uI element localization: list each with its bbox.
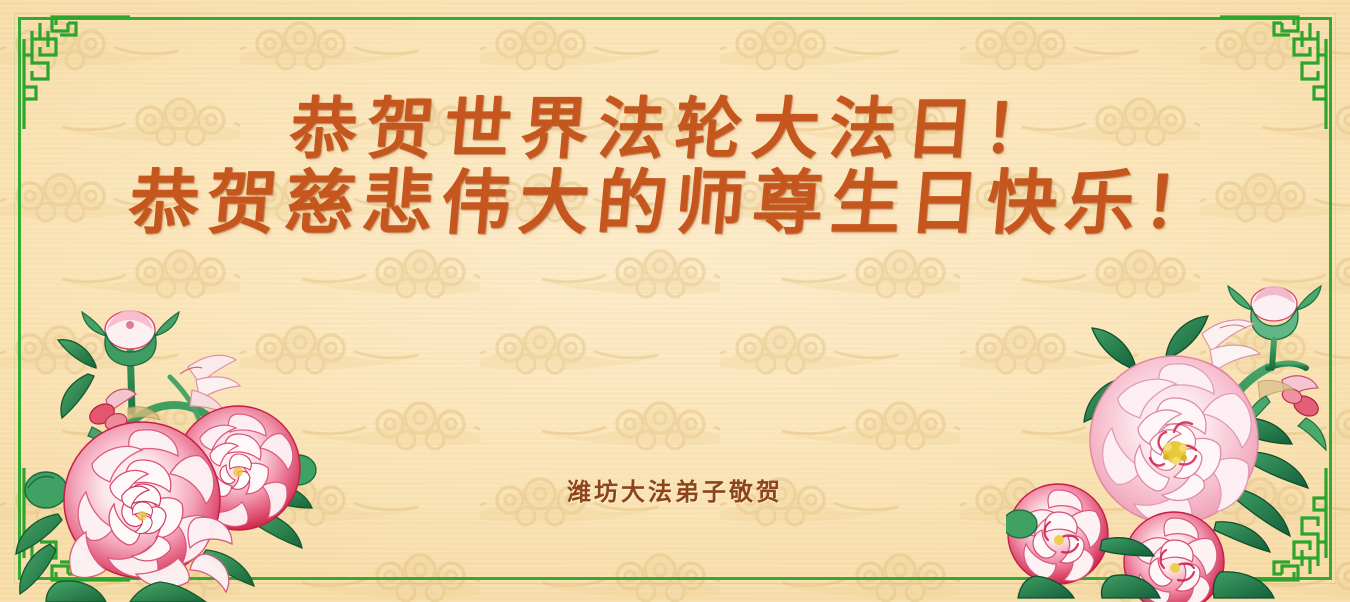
greeting-card: 恭贺世界法轮大法日！ 恭贺慈悲伟大的师尊生日快乐！ 潍坊大法弟子敬贺 <box>0 0 1350 602</box>
peony-cluster-icon <box>10 282 340 602</box>
chinese-meander-corner-icon <box>10 468 130 588</box>
headline-line-2: 恭贺慈悲伟大的师尊生日快乐！ <box>0 166 1350 240</box>
auspicious-cloud-watermark-icon <box>0 0 1350 602</box>
card-border-frame <box>18 17 1332 580</box>
chinese-meander-corner-icon <box>1220 468 1340 588</box>
headline-line-1: 恭贺世界法轮大法日！ <box>0 92 1350 166</box>
chinese-meander-corner-icon <box>10 9 130 129</box>
paper-texture <box>0 0 1350 602</box>
chinese-meander-corner-icon <box>1220 9 1340 129</box>
greeting-headline: 恭贺世界法轮大法日！ 恭贺慈悲伟大的师尊生日快乐！ <box>0 92 1350 240</box>
signature-text: 潍坊大法弟子敬贺 <box>0 472 1350 507</box>
peony-cluster-icon <box>1006 272 1346 602</box>
card-border-inner <box>14 13 1336 584</box>
